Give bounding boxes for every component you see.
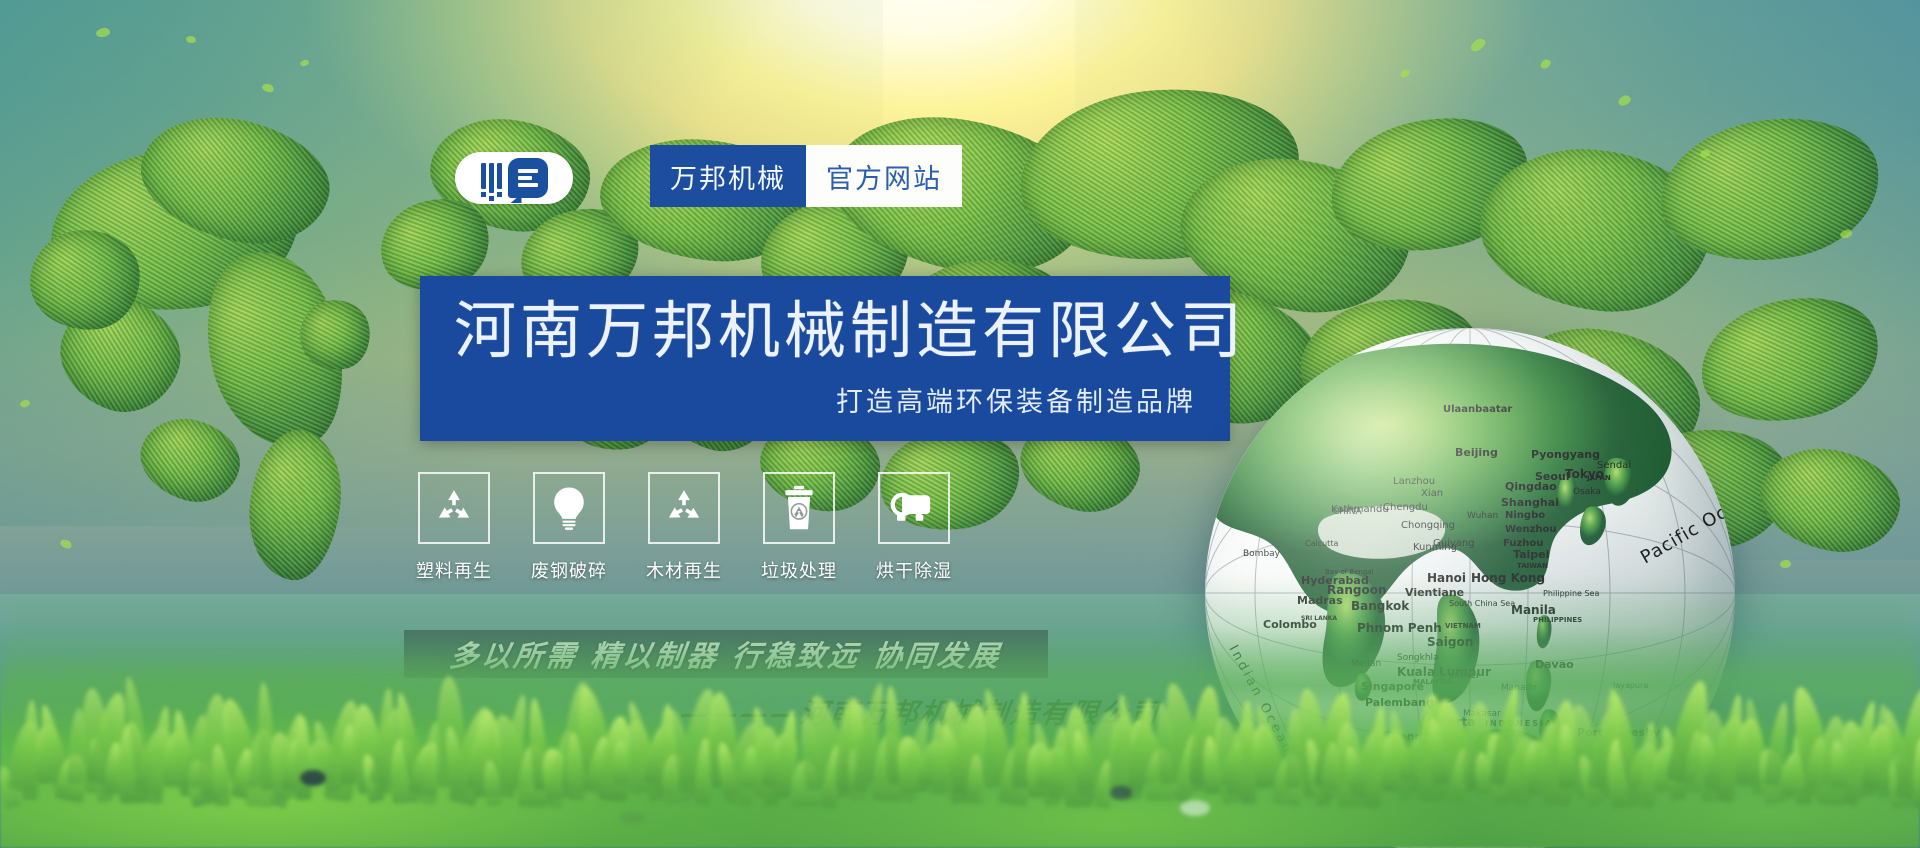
svg-text:Xian: Xian bbox=[1421, 488, 1443, 499]
svg-text:Ulaanbaatar: Ulaanbaatar bbox=[1443, 404, 1512, 415]
dryer-icon bbox=[878, 472, 950, 544]
feature-item-waste-treatment[interactable]: 垃圾处理 bbox=[760, 472, 838, 583]
wanbang-logo[interactable] bbox=[455, 152, 573, 204]
svg-text:Qingdao: Qingdao bbox=[1505, 480, 1557, 493]
svg-text:JAPAN: JAPAN bbox=[1586, 474, 1611, 482]
logo-b-bubble-icon bbox=[508, 158, 548, 198]
svg-text:Kathmandu: Kathmandu bbox=[1331, 504, 1389, 515]
page-title: 河南万邦机械制造有限公司 bbox=[454, 298, 1196, 365]
feature-item-drying-dehumidify[interactable]: 烘干除湿 bbox=[875, 472, 953, 583]
lightbulb-icon bbox=[533, 472, 605, 544]
page-subtitle: 打造高端环保装备制造品牌 bbox=[454, 380, 1196, 419]
header-site-label[interactable]: 官方网站 bbox=[806, 145, 962, 207]
svg-text:Calcutta: Calcutta bbox=[1305, 539, 1338, 548]
feature-item-plastic-recycling[interactable]: 塑料再生 bbox=[415, 472, 493, 583]
svg-text:Pacific Ocean: Pacific Ocean bbox=[1637, 483, 1735, 568]
header-brand-label[interactable]: 万邦机械 bbox=[650, 145, 806, 207]
header-name-bar: 万邦机械 官方网站 bbox=[650, 145, 962, 207]
svg-text:Osaka: Osaka bbox=[1573, 487, 1601, 497]
hero-banner: 万邦机械 官方网站 河南万邦机械制造有限公司 打造高端环保装备制造品牌 bbox=[0, 0, 1920, 848]
svg-text:Bay of Bengal: Bay of Bengal bbox=[1325, 568, 1374, 576]
feature-item-scrap-crushing[interactable]: 废钢破碎 bbox=[530, 472, 608, 583]
svg-text:Shanghai: Shanghai bbox=[1501, 496, 1559, 509]
svg-text:TAIWAN: TAIWAN bbox=[1517, 562, 1548, 570]
svg-text:Bombay: Bombay bbox=[1243, 549, 1281, 559]
feature-item-wood-recycling[interactable]: 木材再生 bbox=[645, 472, 723, 583]
svg-text:Pyongyang: Pyongyang bbox=[1531, 448, 1600, 461]
svg-text:Taipei: Taipei bbox=[1513, 548, 1549, 561]
trash-bin-icon bbox=[763, 472, 835, 544]
svg-text:Sendai: Sendai bbox=[1597, 460, 1631, 471]
logo-w-mark bbox=[481, 163, 502, 193]
recycle-icon bbox=[418, 472, 490, 544]
feature-icon-row: 塑料再生 废钢破碎 bbox=[415, 472, 953, 583]
svg-text:Lanzhou: Lanzhou bbox=[1393, 476, 1435, 487]
hero-title-panel: 河南万邦机械制造有限公司 打造高端环保装备制造品牌 bbox=[420, 276, 1230, 441]
svg-text:Wenzhou: Wenzhou bbox=[1505, 524, 1557, 535]
grass-tufts bbox=[0, 658, 1920, 808]
svg-text:Chongqing: Chongqing bbox=[1401, 520, 1455, 531]
svg-text:Wuhan: Wuhan bbox=[1467, 511, 1498, 521]
svg-text:Ningbo: Ningbo bbox=[1505, 510, 1545, 521]
svg-text:Guiyang: Guiyang bbox=[1433, 538, 1475, 549]
svg-text:Chengdu: Chengdu bbox=[1383, 502, 1428, 513]
recycle-icon bbox=[648, 472, 720, 544]
svg-text:Beijing: Beijing bbox=[1455, 446, 1498, 459]
